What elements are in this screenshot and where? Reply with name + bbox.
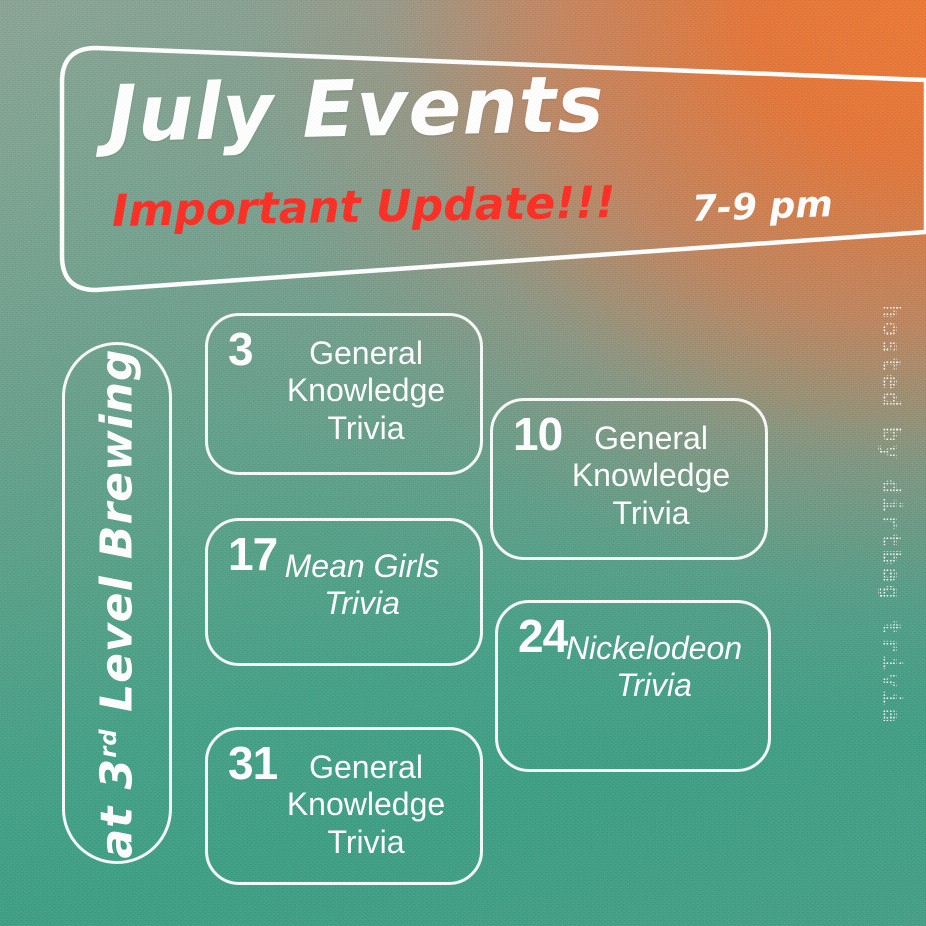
venue-ordinal: rd: [96, 728, 122, 758]
host-credit: hosted by dirtbag trivia: [878, 304, 907, 725]
poster-canvas: July Events Important Update!!! 7-9 pm a…: [0, 0, 926, 926]
venue-panel: at 3rd Level Brewing: [62, 342, 172, 864]
event-card[interactable]: 10 GeneralKnowledgeTrivia: [490, 398, 768, 560]
event-title: GeneralKnowledgeTrivia: [228, 335, 462, 447]
venue-prefix: at 3: [92, 757, 143, 858]
event-card[interactable]: 24 NickelodeonTrivia: [495, 600, 771, 772]
event-card[interactable]: 17 Mean GirlsTrivia: [205, 518, 483, 666]
host-credit-wrap: hosted by dirtbag trivia: [862, 300, 922, 770]
event-card[interactable]: 3 GeneralKnowledgeTrivia: [205, 313, 483, 475]
venue-label: at 3rd Level Brewing: [92, 348, 143, 858]
header-banner-shape: [0, 0, 926, 300]
venue-name: Level Brewing: [92, 348, 143, 728]
event-card[interactable]: 31 GeneralKnowledgeTrivia: [205, 727, 483, 885]
